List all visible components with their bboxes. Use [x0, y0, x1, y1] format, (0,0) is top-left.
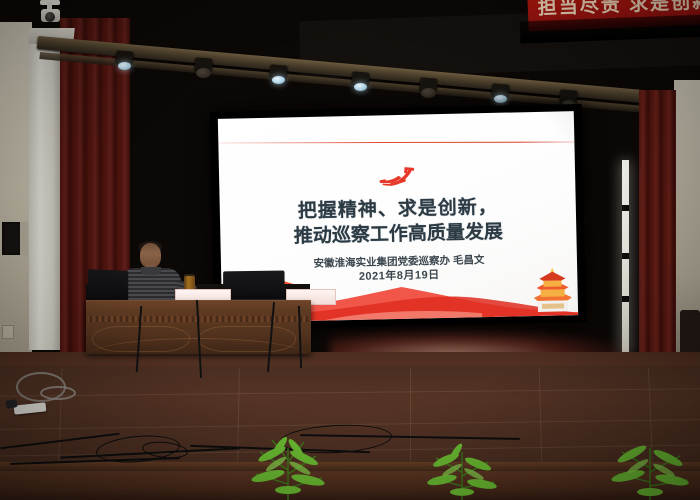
- slit-break: [622, 296, 629, 302]
- potted-palm-plant: [416, 438, 508, 500]
- right-stage-curtain: [639, 90, 676, 358]
- conference-hall-photo: 担当尽责 求是创新: [0, 0, 700, 500]
- palm-fronds-icon: [416, 438, 508, 500]
- stage-light-lens: [494, 95, 507, 103]
- stage-light-lens: [118, 62, 131, 70]
- grey-floor-cable-loop: [40, 386, 76, 400]
- potted-palm-plant: [238, 430, 338, 500]
- stage-light-lens: [354, 83, 367, 91]
- camera-lens-icon: [45, 12, 55, 22]
- speaker-collar: [141, 267, 161, 275]
- wall-outlet-plate: [2, 325, 14, 339]
- cpc-emblem-icon: [375, 165, 420, 192]
- potted-palm-plant: [600, 434, 700, 500]
- side-chair: [680, 310, 700, 354]
- stage-light-lens: [272, 76, 285, 84]
- wall-speaker-recess: [2, 222, 22, 255]
- wall-recess-edge: [20, 222, 28, 255]
- left-wall: [0, 22, 32, 352]
- slide-title: 把握精神、求是创新， 推动巡察工作高质量发展: [220, 193, 577, 251]
- temple-of-heaven-icon: [531, 267, 574, 314]
- stage-light-lens-off: [421, 88, 436, 98]
- stage-front-face: [0, 471, 700, 500]
- floor-seam-vertical: [410, 368, 411, 463]
- slit-break: [622, 253, 629, 259]
- slit-break: [622, 205, 629, 211]
- palm-fronds-icon: [238, 430, 338, 500]
- slide-accent-line: [218, 142, 574, 144]
- white-column: [29, 30, 60, 350]
- stage-front-edge: [0, 462, 700, 471]
- stage-light-lens-off: [196, 68, 211, 78]
- palm-fronds-icon: [600, 434, 700, 500]
